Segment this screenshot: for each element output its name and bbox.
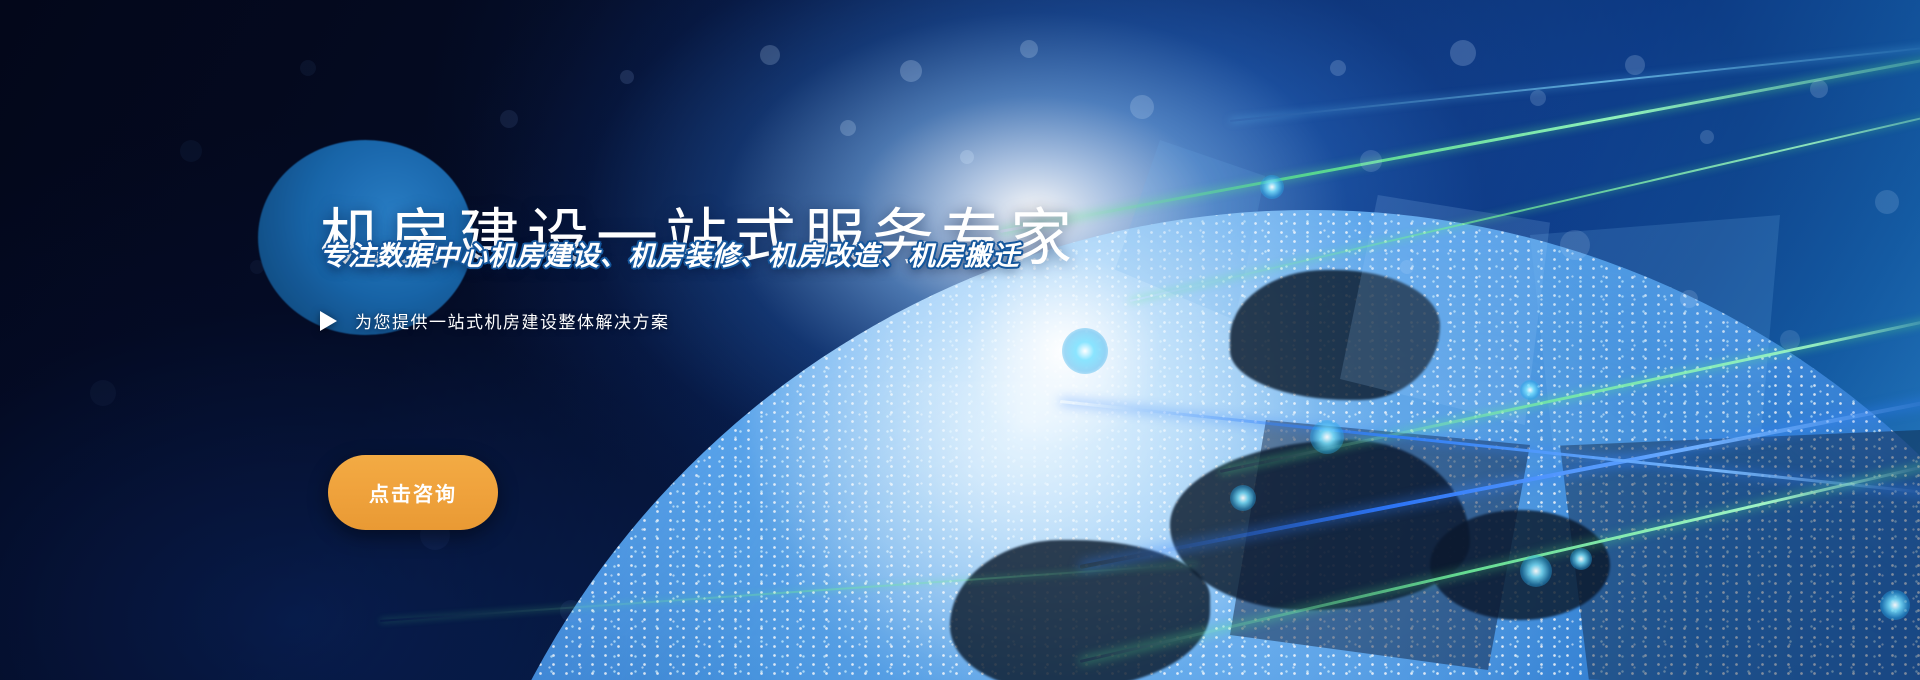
hero-content: 机房建设一站式服务专家 专注数据中心机房建设、机房装修、机房改造、机房搬迁 为您… <box>0 0 1920 680</box>
tagline-row: 为您提供一站式机房建设整体解决方案 <box>320 308 670 333</box>
hero-banner: 机房建设一站式服务专家 专注数据中心机房建设、机房装修、机房改造、机房搬迁 为您… <box>0 0 1920 680</box>
subtitle: 专注数据中心机房建设、机房装修、机房改造、机房搬迁 <box>320 234 1020 273</box>
tagline-text: 为您提供一站式机房建设整体解决方案 <box>355 308 670 333</box>
play-triangle-icon <box>320 311 337 331</box>
consult-button[interactable]: 点击咨询 <box>328 455 498 530</box>
